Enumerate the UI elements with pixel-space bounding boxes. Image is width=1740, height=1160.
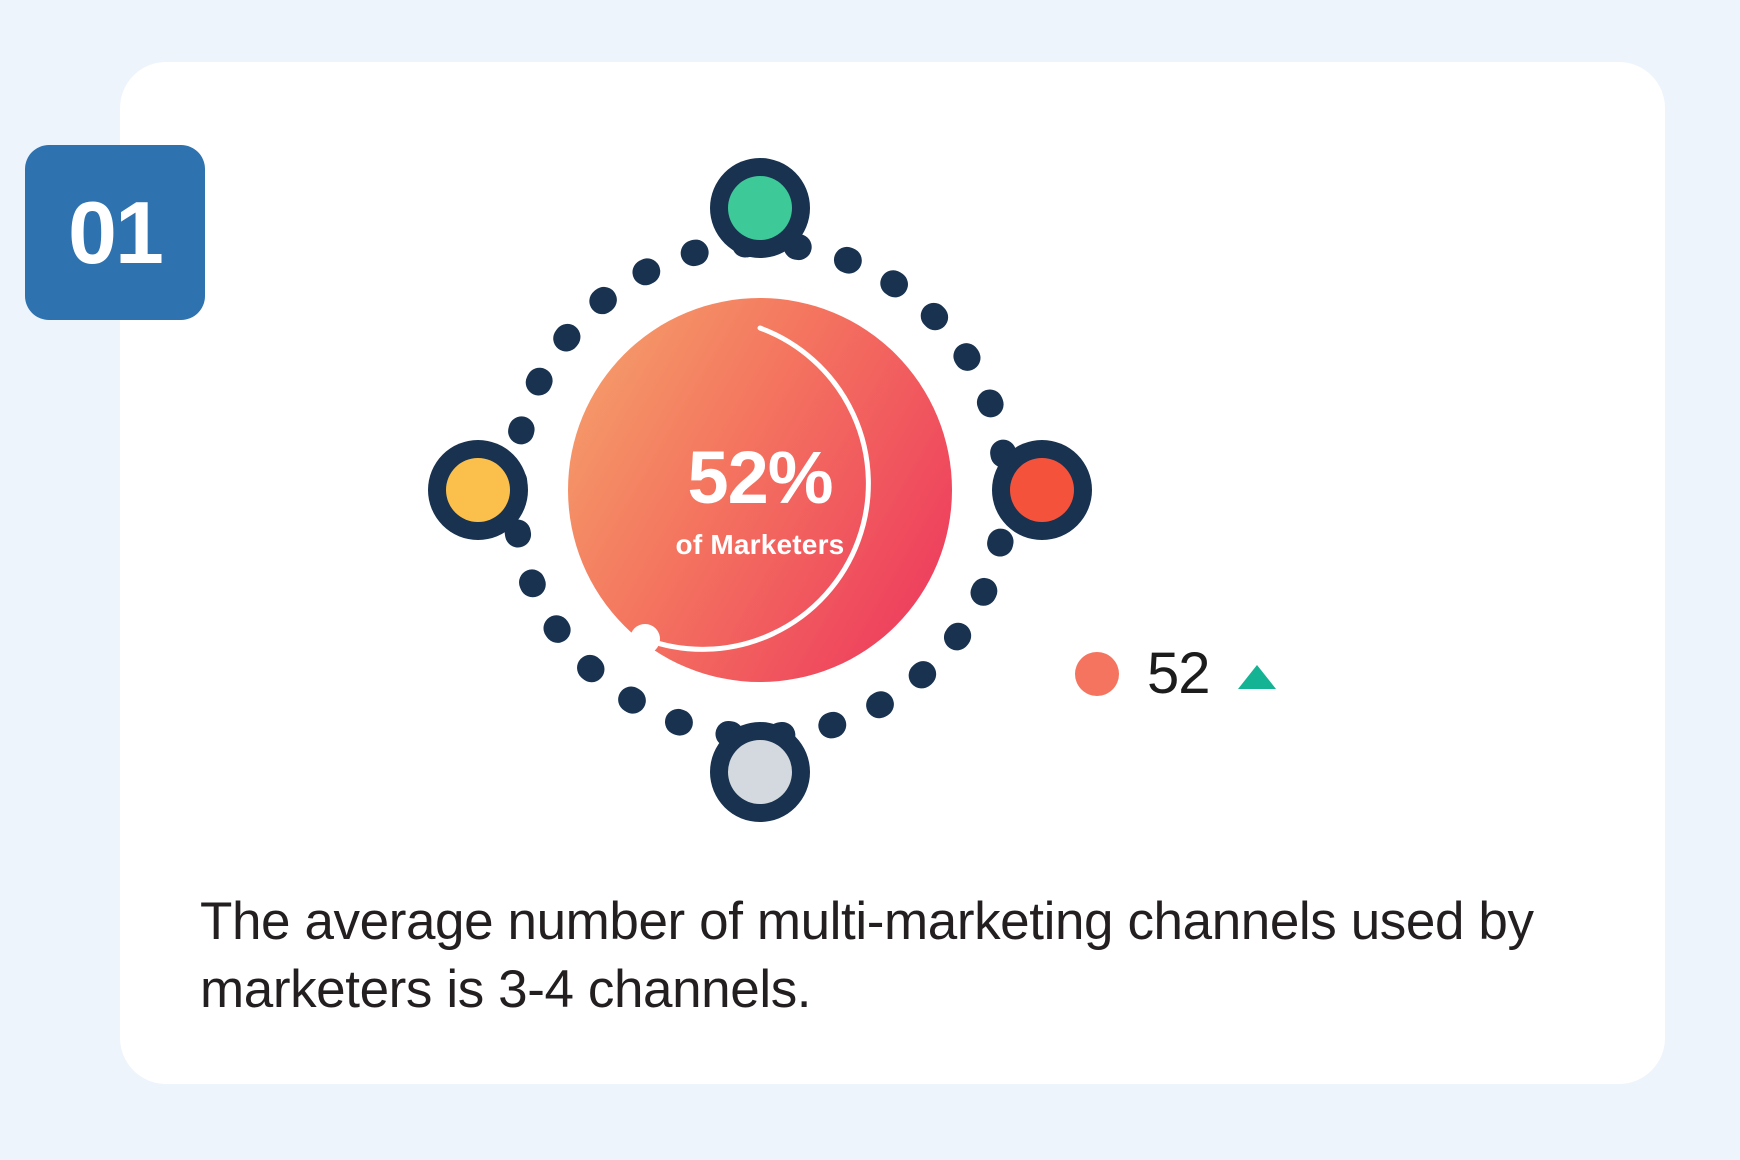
node-top[interactable] [710,158,810,258]
caption-text: The average number of multi-marketing ch… [200,888,1580,1024]
step-number-badge: 01 [25,145,205,320]
donut-stat-svg [430,150,1090,830]
legend: 52 [1075,645,1276,703]
node-left[interactable] [428,440,528,540]
legend-color-dot-icon [1075,652,1119,696]
progress-arc-endpoint [630,624,660,654]
node-right[interactable] [992,440,1092,540]
step-number-label: 01 [68,189,162,277]
trend-up-icon [1238,665,1276,689]
node-bottom[interactable] [710,722,810,822]
legend-value: 52 [1147,645,1210,703]
donut-stat-graphic: 52% of Marketers [430,150,1090,830]
gradient-circle [568,298,952,682]
